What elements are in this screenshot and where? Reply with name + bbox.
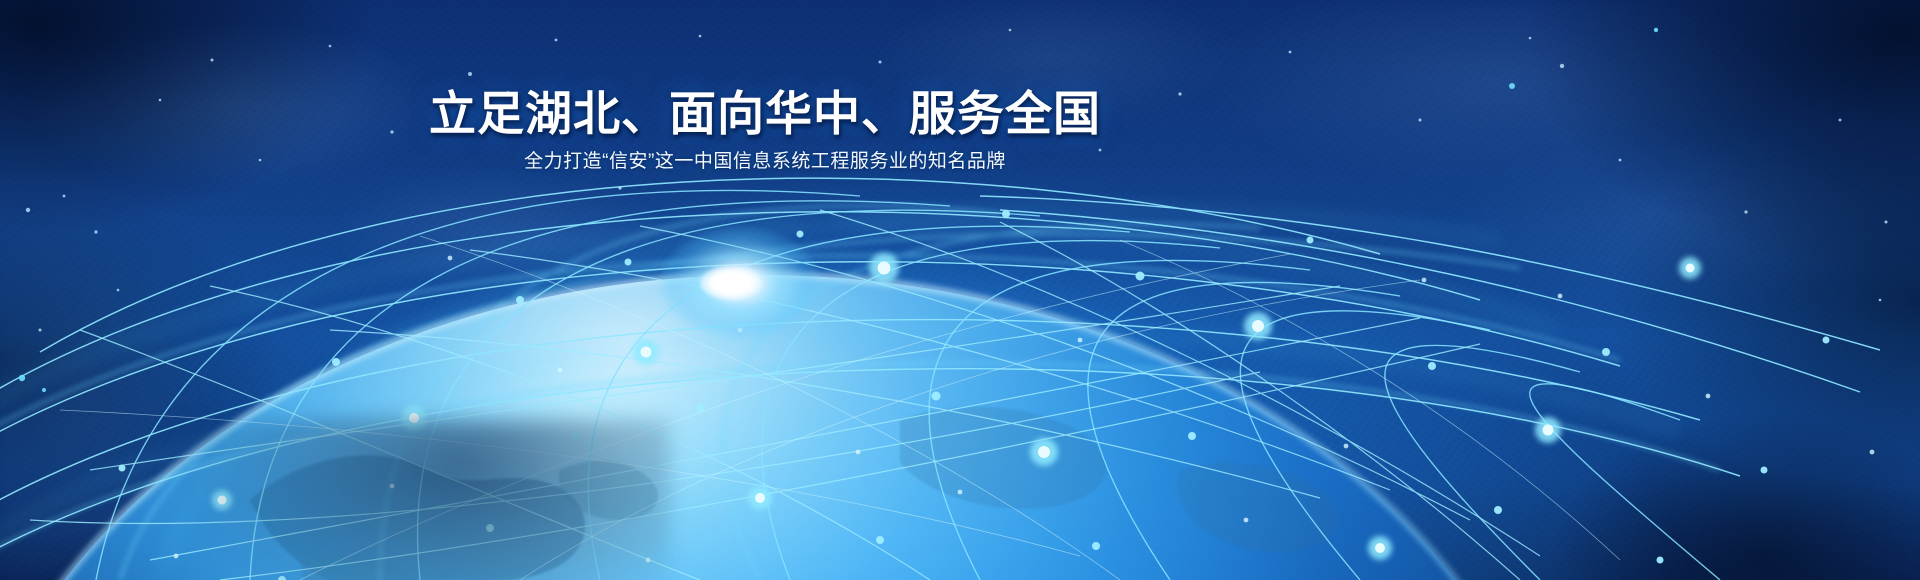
network-globe xyxy=(0,0,1920,580)
hero-banner: 立足湖北、面向华中、服务全国 全力打造“信安”这一中国信息系统工程服务业的知名品… xyxy=(0,0,1920,580)
globe-light-burst-core xyxy=(700,266,762,300)
globe-shadow xyxy=(150,420,670,580)
